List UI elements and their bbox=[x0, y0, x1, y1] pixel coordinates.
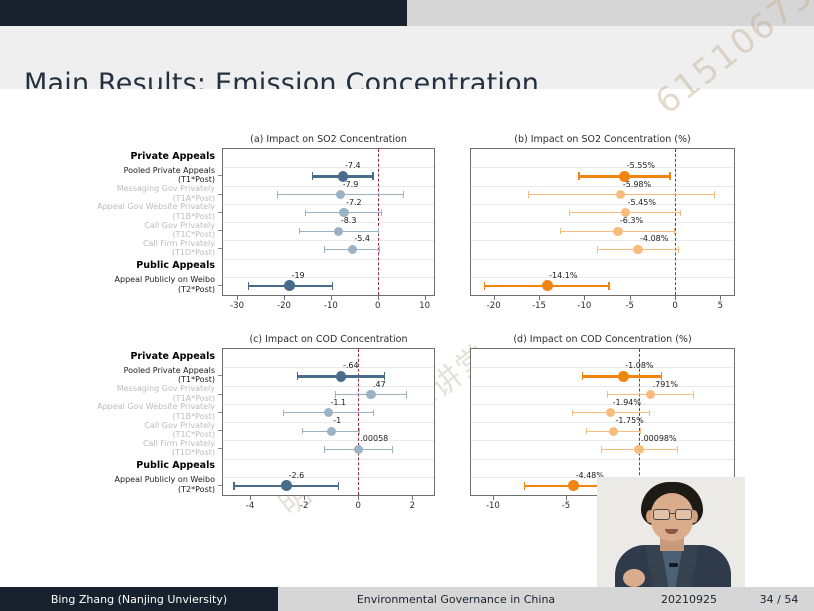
ci-cap bbox=[649, 410, 650, 416]
ci-cap bbox=[693, 391, 694, 397]
footer-date: 20210925 bbox=[634, 587, 744, 611]
slide-content: 61510675036 明德环境学术讲堂 (a) Impact on SO2 C… bbox=[0, 89, 814, 587]
x-axis-tick bbox=[493, 496, 494, 500]
chart-gridline bbox=[471, 422, 734, 423]
coefficient-point bbox=[568, 480, 579, 491]
point-value-label: -1.94% bbox=[613, 398, 641, 407]
footer-author: Bing Zhang (Nanjing Unviersity) bbox=[0, 587, 278, 611]
point-value-label: .791% bbox=[653, 380, 678, 389]
ci-cap bbox=[640, 428, 641, 434]
chart-gridline bbox=[471, 367, 734, 368]
ci-cap bbox=[677, 446, 678, 452]
presenter-video-overlay[interactable] bbox=[597, 477, 745, 587]
ci-cap bbox=[607, 391, 608, 397]
point-value-label: -1.08% bbox=[625, 361, 653, 370]
title-band: Main Results: Emission Concentration bbox=[0, 26, 814, 89]
chart-plotarea-d: -1.08%.791%-1.94%-1.75%.00098%-4.48% bbox=[470, 348, 735, 496]
point-value-label: -1.75% bbox=[615, 416, 643, 425]
ci-cap bbox=[572, 410, 573, 416]
ci-cap bbox=[524, 482, 525, 490]
glasses-right-lens bbox=[675, 509, 692, 520]
point-value-label: .00098% bbox=[641, 434, 677, 443]
x-axis-tick bbox=[566, 496, 567, 500]
x-axis-tick-label: -5 bbox=[562, 501, 570, 511]
coefficient-point bbox=[609, 427, 618, 436]
coefficient-point bbox=[634, 445, 643, 454]
chart-gridline bbox=[471, 386, 734, 387]
slide-footer: Bing Zhang (Nanjing Unviersity) Environm… bbox=[0, 587, 814, 611]
footer-page-number: 34 / 54 bbox=[744, 587, 814, 611]
beamer-progress-bar bbox=[0, 0, 814, 26]
coefficient-point bbox=[646, 390, 655, 399]
presenter-hand bbox=[623, 569, 645, 587]
coefficient-point bbox=[606, 408, 615, 417]
chart-gridline bbox=[471, 440, 734, 441]
x-axis-tick-label: -10 bbox=[486, 501, 500, 511]
chart-gridline bbox=[471, 404, 734, 405]
beamer-progress-fill bbox=[0, 0, 407, 26]
glasses-bridge bbox=[670, 513, 675, 514]
lapel-microphone bbox=[669, 563, 678, 567]
glasses-left-lens bbox=[653, 509, 670, 520]
chart-title-d: (d) Impact on COD Concentration (%) bbox=[470, 334, 735, 345]
ci-cap bbox=[601, 446, 602, 452]
coefficient-point bbox=[618, 371, 629, 382]
ci-cap bbox=[582, 372, 583, 380]
chart-gridline bbox=[471, 459, 734, 460]
footer-talk-title: Environmental Governance in China bbox=[278, 587, 634, 611]
ci-cap bbox=[586, 428, 587, 434]
